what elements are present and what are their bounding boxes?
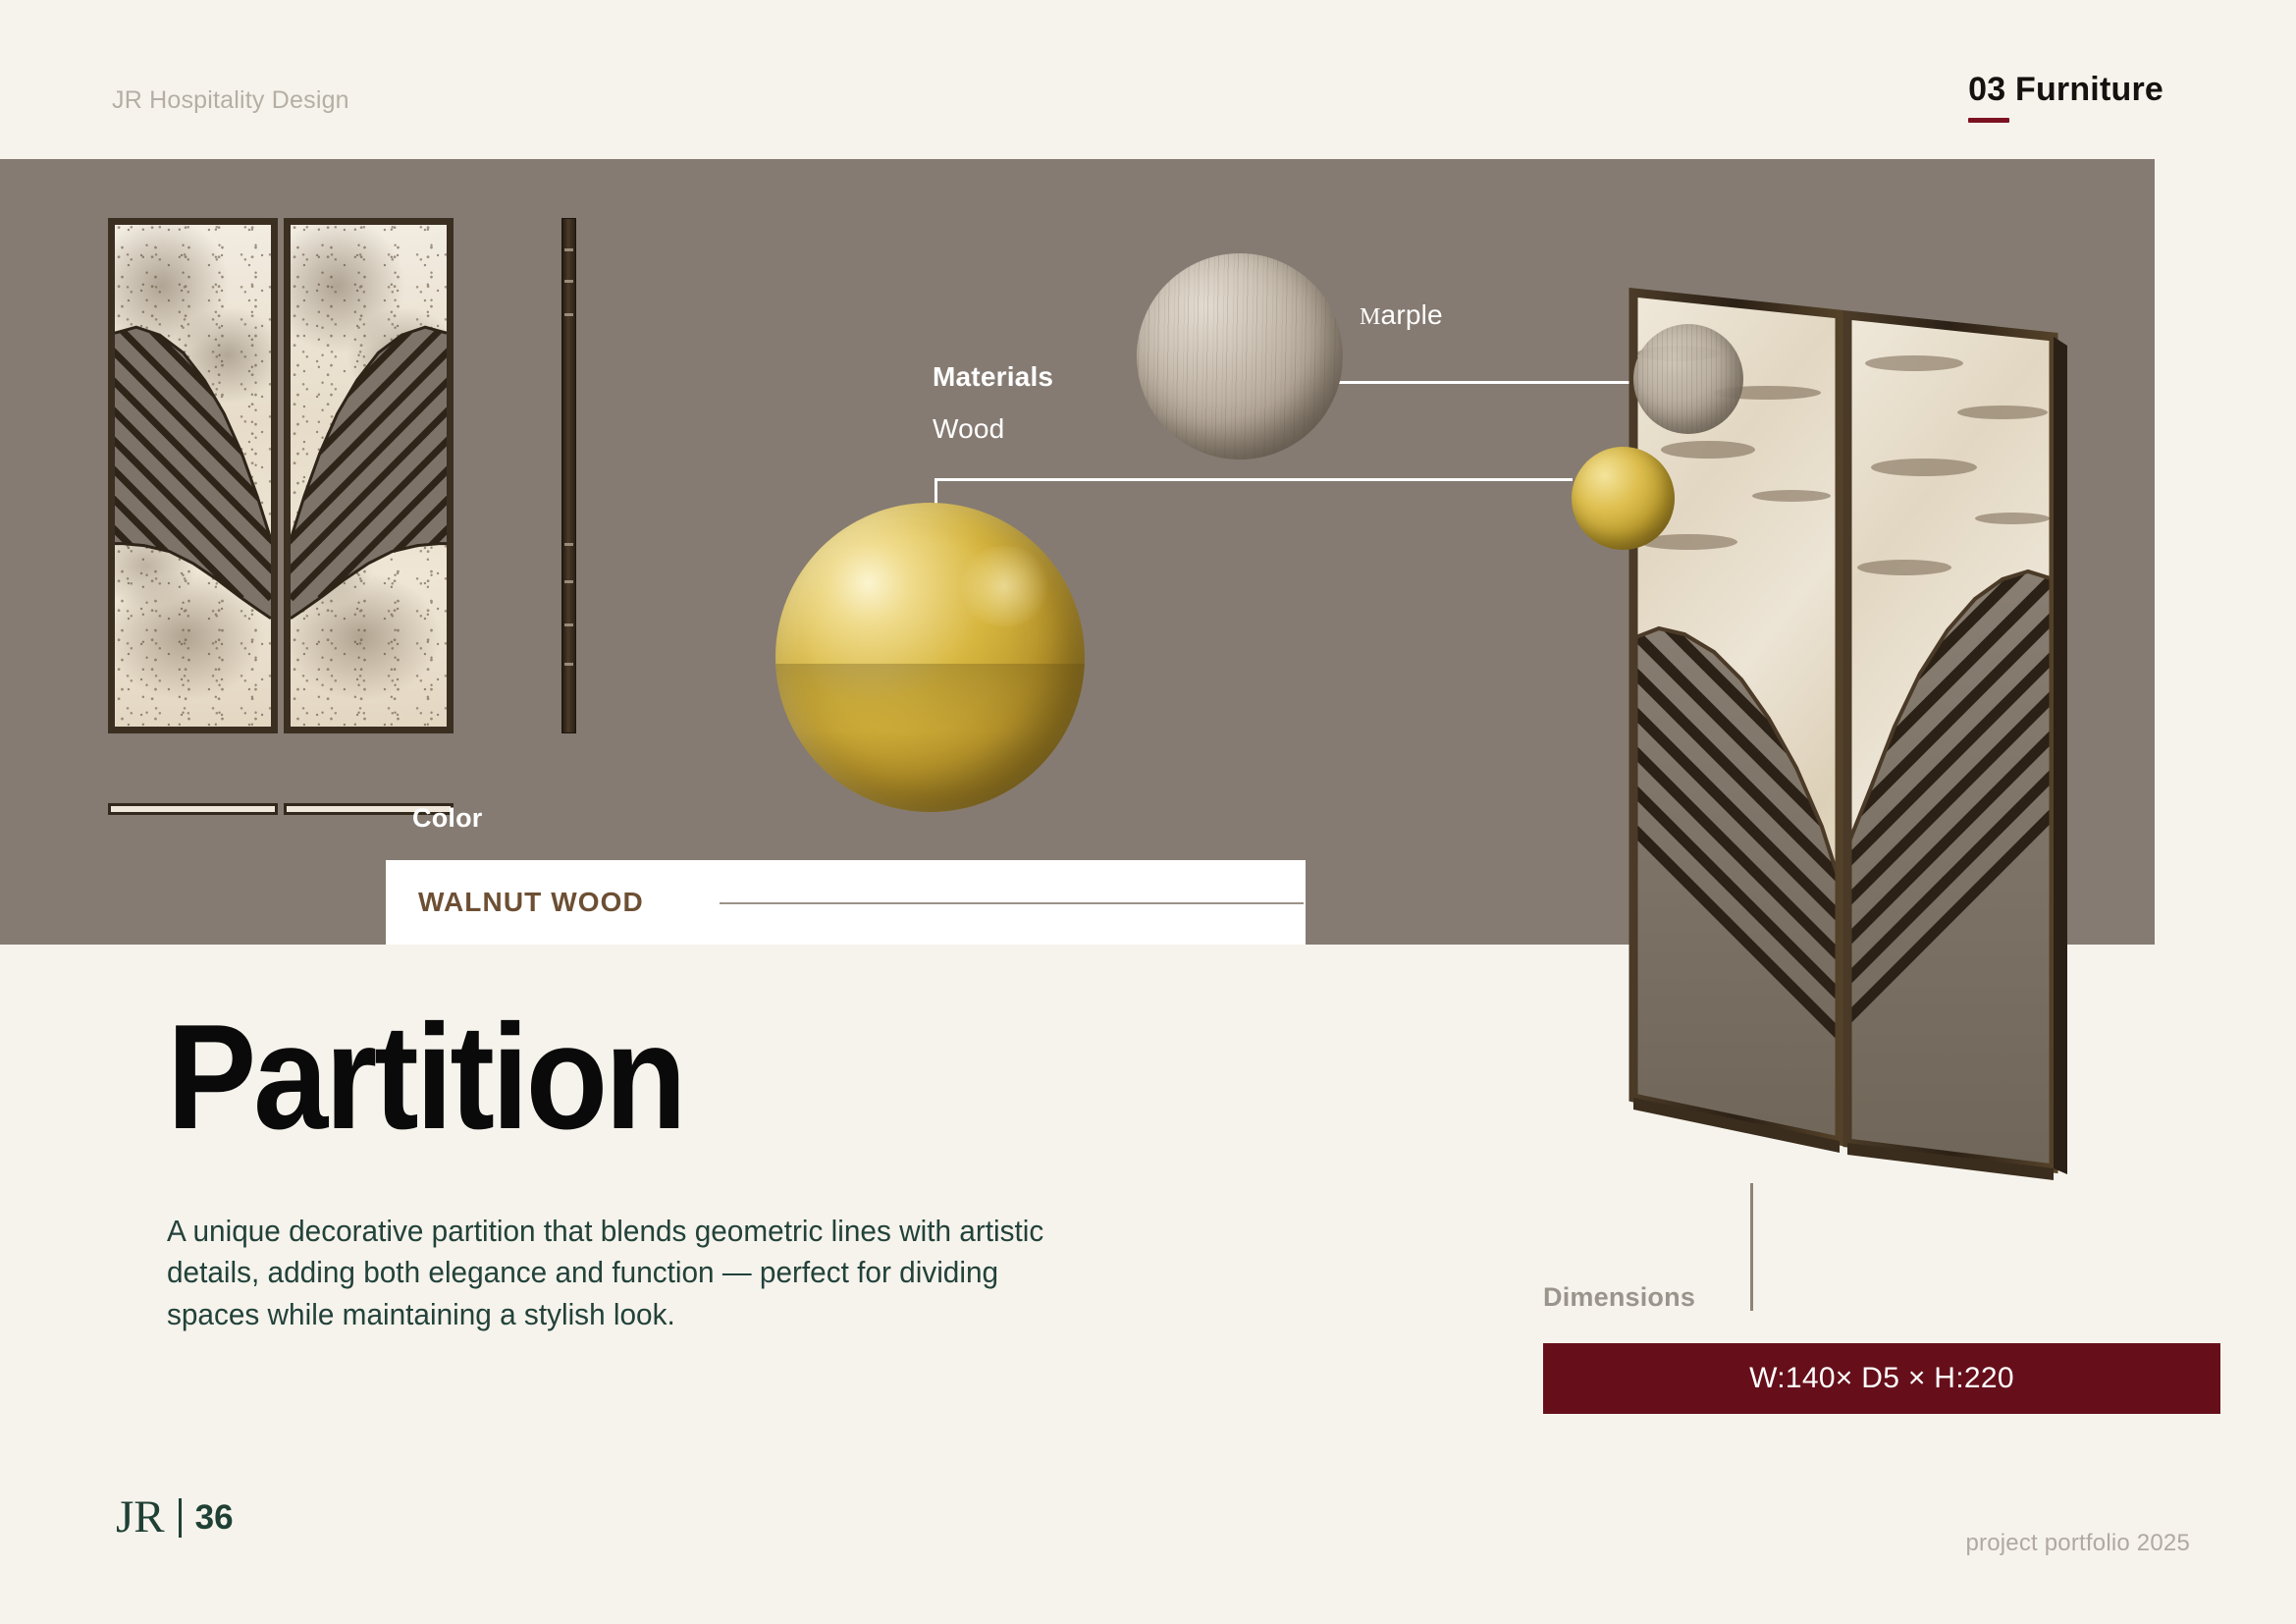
marple-label-capital: M: [1360, 304, 1381, 330]
materials-item-wood: Wood: [933, 413, 1053, 445]
section-tag: 03 Furniture: [1968, 71, 2163, 123]
marble-grain-overlay: [1633, 324, 1743, 434]
gold-material-sphere: [775, 503, 1085, 812]
marble-material-sphere: [1137, 253, 1343, 460]
materials-heading: Materials: [933, 361, 1053, 393]
partition-side-profile-view: [561, 218, 576, 733]
page-title: Partition: [167, 1009, 683, 1147]
brand-name: JR Hospitality Design: [112, 86, 349, 115]
dimension-leader-line: [1750, 1183, 1753, 1311]
gold-sphere-overlay: [1572, 447, 1675, 550]
marble-sphere-overlay: [1633, 324, 1743, 434]
footer-caption: project portfolio 2025: [1965, 1530, 2190, 1557]
gold-highlight: [955, 546, 1054, 626]
leader-line-marple: [1330, 381, 1669, 384]
page-number: 36: [195, 1500, 234, 1535]
footer-divider: [179, 1498, 182, 1538]
leader-line-wood-horizontal: [934, 478, 1573, 481]
color-swatch-rule: [720, 902, 1304, 904]
materials-block: Materials Wood: [933, 361, 1053, 445]
dimensions-badge: W:140× D5 × H:220: [1543, 1343, 2220, 1414]
section-title: 03 Furniture: [1968, 71, 2163, 109]
color-label: Color: [412, 803, 483, 834]
dimensions-value: W:140× D5 × H:220: [1749, 1362, 2014, 1395]
elevation-panel-left: [108, 218, 278, 733]
partition-elevation-drawing: [108, 218, 454, 733]
dimensions-label: Dimensions: [1543, 1282, 1695, 1313]
elevation-panel-right: [284, 218, 454, 733]
section-underline: [1968, 118, 2009, 123]
portfolio-page: JR Hospitality Design 03 Furniture: [0, 0, 2296, 1624]
color-swatch-name: WALNUT WOOD: [418, 887, 644, 918]
partition-plan-view: [108, 803, 454, 815]
marple-label-rest: arple: [1381, 299, 1443, 330]
color-swatch-band: WALNUT WOOD: [386, 860, 1306, 945]
marple-label: Marple: [1360, 299, 1443, 331]
jr-logo-mark: JR: [116, 1494, 165, 1541]
diagonal-slats-right: [291, 225, 447, 727]
page-description: A unique decorative partition that blend…: [167, 1211, 1072, 1335]
gold-shadow-band: [775, 664, 1085, 731]
footer-logo: JR 36: [116, 1494, 234, 1541]
marble-grain: [1137, 253, 1343, 460]
diagonal-slats-left: [115, 225, 271, 727]
